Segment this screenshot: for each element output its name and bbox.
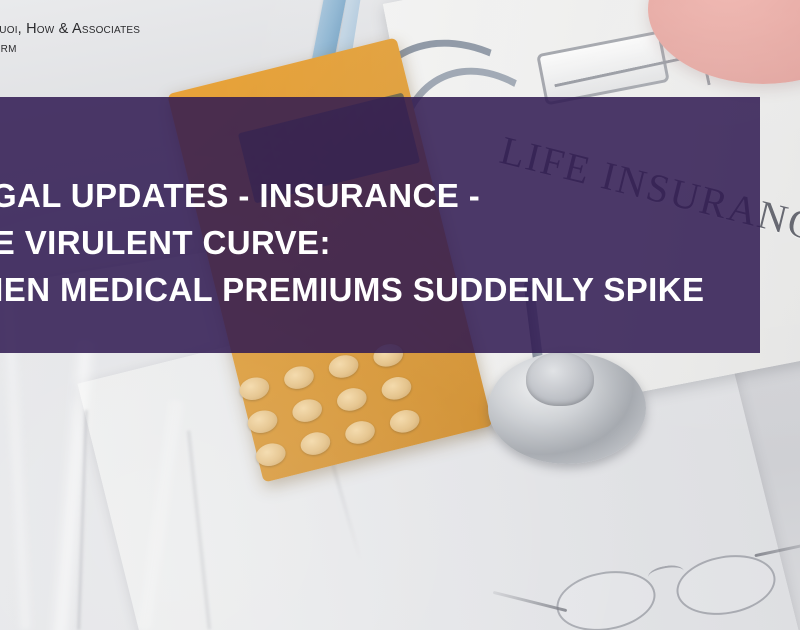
site-logo-line-1: Law Huoi, How & Associates	[0, 20, 140, 39]
site-logo-line-2: Law Firm	[0, 39, 140, 58]
page-title-line-3: WHEN MEDICAL PREMIUMS SUDDENLY SPIKE	[0, 266, 688, 313]
hero-banner-page: LIFE INSURANCE Law Huoi, How & Associate…	[0, 0, 800, 630]
calculator-key	[298, 429, 332, 458]
site-logo[interactable]: Law Huoi, How & Associates Law Firm	[0, 20, 140, 57]
page-title-line-1: LEGAL UPDATES - INSURANCE -	[0, 172, 688, 219]
calculator-key	[387, 407, 421, 436]
calculator-key	[237, 374, 271, 403]
calculator-key	[326, 352, 360, 381]
calculator-key	[379, 374, 413, 403]
page-title: LEGAL UPDATES - INSURANCE - THE VIRULENT…	[0, 172, 688, 313]
calculator-key	[290, 396, 324, 425]
calculator-key	[335, 385, 369, 414]
stethoscope-diaphragm	[526, 352, 594, 406]
calculator-key	[282, 363, 316, 392]
calculator-key	[245, 407, 279, 436]
calculator-key	[343, 418, 377, 447]
calculator-key	[254, 440, 288, 469]
page-title-line-2: THE VIRULENT CURVE:	[0, 219, 688, 266]
